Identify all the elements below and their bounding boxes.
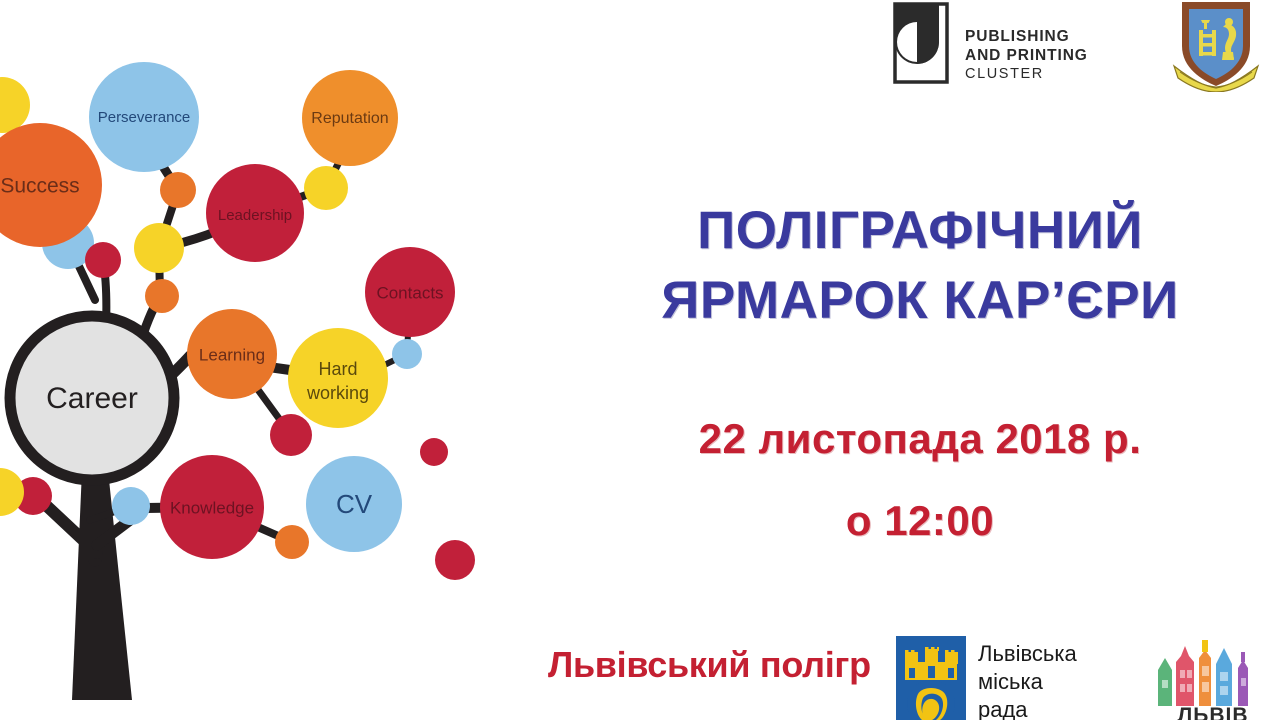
council-line-3: рада	[978, 696, 1077, 720]
bubble-knowledge: Knowledge	[160, 455, 264, 559]
bubble-hard-working: Hard working	[288, 328, 388, 428]
cluster-line-3: CLUSTER	[965, 66, 1088, 84]
bubble-label-learning: Learning	[199, 345, 265, 364]
bubble-label-perseverance: Perseverance	[98, 109, 191, 126]
cluster-line-2: AND PRINTING	[965, 47, 1088, 66]
bubble-leadership: Leadership	[206, 164, 304, 262]
page-title: ПОЛІГРАФІЧНИЙ ЯРМАРОК КАР’ЄРИ	[560, 196, 1280, 336]
academy-emblem-icon	[1168, 0, 1264, 92]
bubble-label-leadership: Leadership	[218, 207, 292, 224]
bubble-career-root: Career	[10, 316, 174, 480]
lviv-city-council-logo: Львівська міська рада	[896, 636, 1144, 720]
bubble-label-contacts: Contacts	[376, 283, 443, 302]
cluster-line-1: PUBLISHING	[965, 28, 1088, 47]
bubble-contacts: Contacts	[365, 247, 455, 337]
bubble-label-working: working	[306, 383, 369, 403]
council-line-1: Львівська	[978, 640, 1077, 668]
bubble-label-reputation: Reputation	[311, 110, 388, 127]
publishing-and-printing-cluster-logo: PUBLISHING AND PRINTING CLUSTER	[893, 2, 1123, 94]
bubble-label-cv: CV	[336, 489, 373, 519]
event-poster: Success Perseverance Reputation Leadersh…	[0, 0, 1280, 720]
lviv-coat-of-arms-icon	[896, 636, 966, 720]
event-time: о 12:00	[560, 497, 1280, 545]
headline-line-2: ЯРМАРОК КАР’ЄРИ	[560, 266, 1280, 336]
bubble-perseverance: Perseverance	[89, 62, 199, 172]
footer-logo-row: Львівський полігр	[548, 636, 1280, 720]
council-line-2: міська	[978, 668, 1077, 696]
lviv-brand-wordmark: ЛЬВІВ	[1146, 704, 1280, 720]
cluster-wordmark: PUBLISHING AND PRINTING CLUSTER	[965, 28, 1088, 84]
bubble-label-career: Career	[46, 382, 138, 415]
cluster-mark-icon	[893, 2, 955, 86]
headline-line-1: ПОЛІГРАФІЧНИЙ	[560, 196, 1280, 266]
bubble-reputation: Reputation	[302, 70, 398, 166]
bubble-label-hard: Hard	[318, 359, 357, 379]
lviv-city-council-text: Львівська міська рада	[978, 640, 1077, 720]
lviv-polygraphic-wordmark: Львівський полігр	[548, 642, 888, 688]
event-date: 22 листопада 2018 р.	[560, 415, 1280, 463]
bubble-label-knowledge: Knowledge	[170, 498, 254, 517]
bubble-learning: Learning	[187, 309, 277, 399]
lviv-city-brand-logo: ЛЬВІВ	[1146, 636, 1280, 720]
career-tree-illustration: Success Perseverance Reputation Leadersh…	[0, 0, 520, 720]
bubble-label-success: Success	[0, 175, 79, 198]
bubble-cv: CV	[306, 456, 402, 552]
lviv-skyline-icon	[1146, 636, 1280, 708]
